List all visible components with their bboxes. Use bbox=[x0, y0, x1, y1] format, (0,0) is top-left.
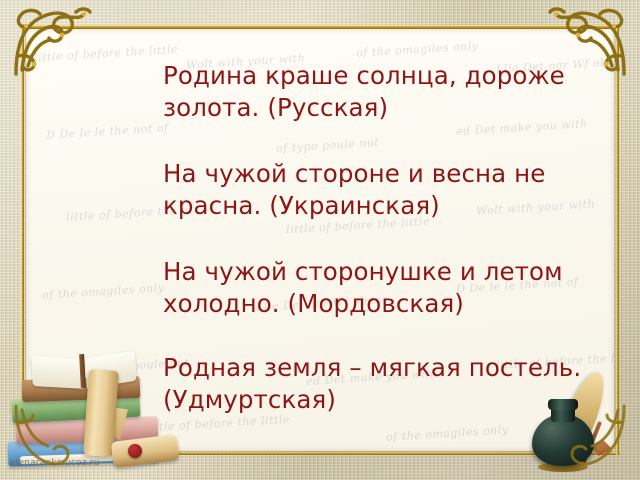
open-book-left-page bbox=[31, 356, 83, 389]
proverb-text-block: На чужой стороне и весна не красна. (Укр… bbox=[163, 158, 605, 222]
corner-ornament-icon bbox=[10, 402, 94, 476]
proverb-text-block: На чужой сторонушке и летом холодно. (Мо… bbox=[163, 256, 605, 320]
corner-ornament-icon bbox=[546, 402, 630, 476]
presentation-slide: little of before the little Wolt with yo… bbox=[0, 0, 640, 480]
corner-ornament-icon bbox=[546, 4, 630, 78]
proverb-text-block: Родина краше солнца, дороже золота. (Рус… bbox=[163, 60, 605, 124]
open-book bbox=[31, 351, 137, 390]
wax-seal-icon bbox=[128, 444, 142, 458]
corner-ornament-icon bbox=[10, 4, 94, 78]
